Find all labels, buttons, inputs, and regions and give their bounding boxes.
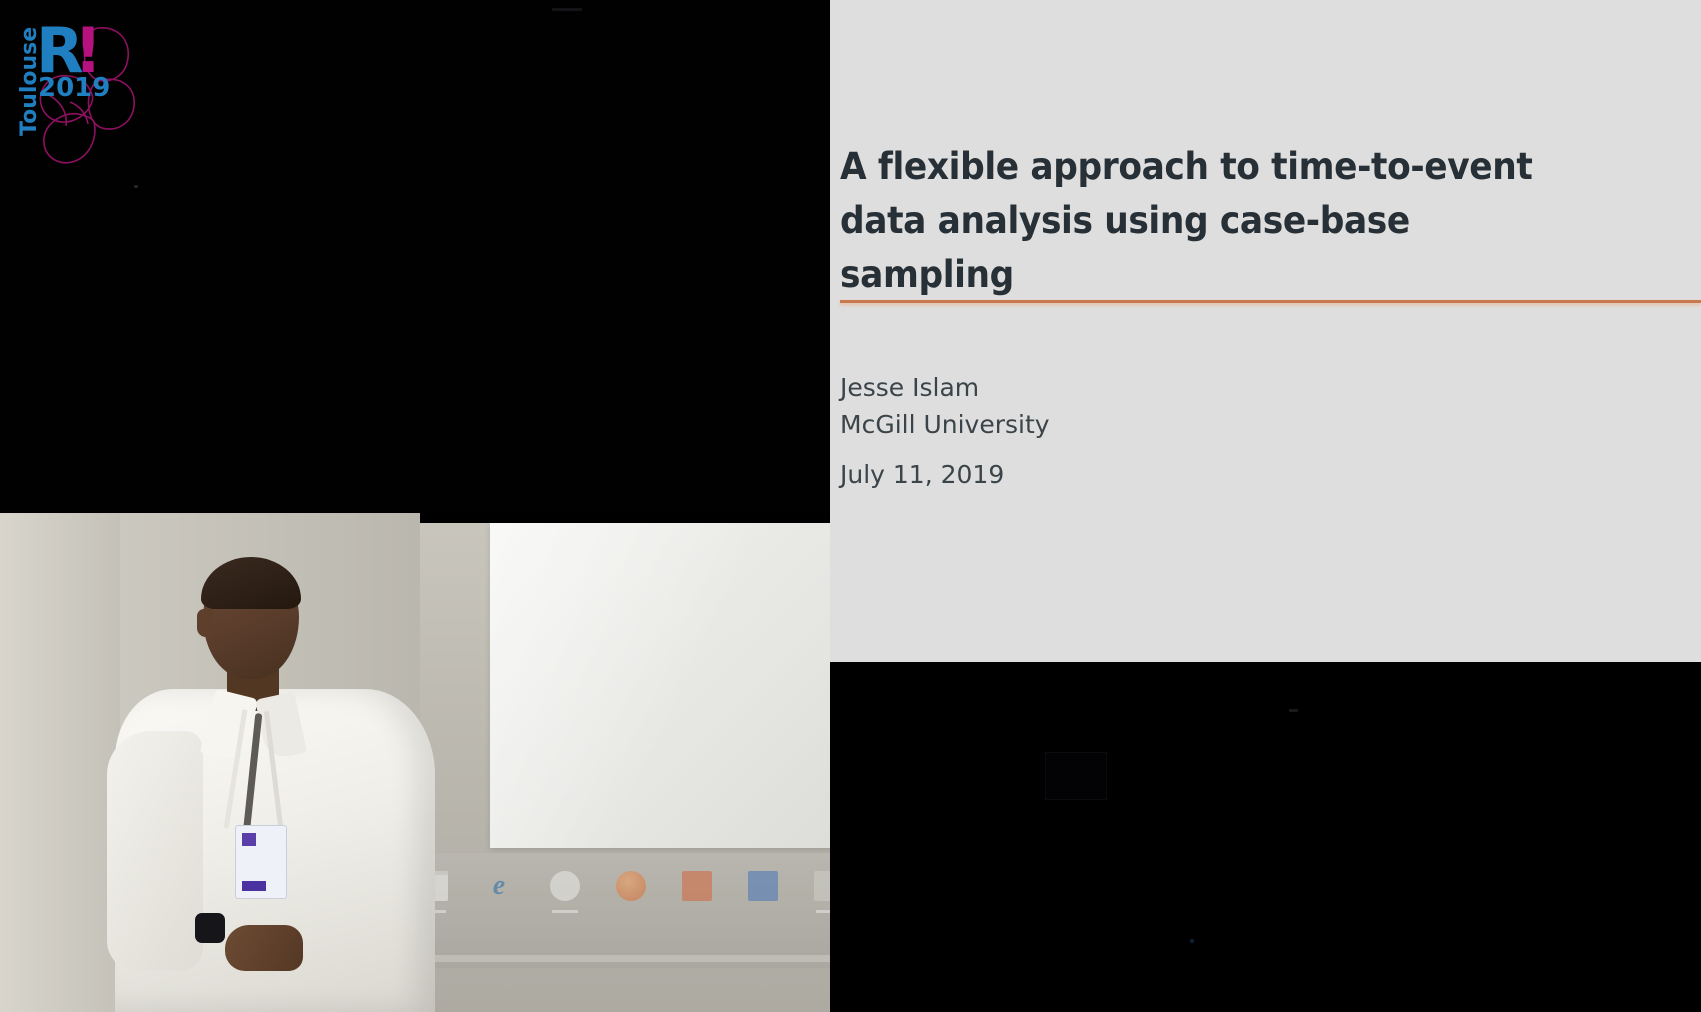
slide-date: July 11, 2019 xyxy=(840,457,1050,494)
light-speck xyxy=(1190,939,1194,943)
presenter-ear xyxy=(197,609,213,637)
misc-app-icon xyxy=(814,871,830,901)
presenter-hair xyxy=(201,557,301,609)
slide-affiliation: McGill University xyxy=(840,407,1050,444)
camera-dark-top-left[interactable]: Toulouse R ! 2019 xyxy=(0,0,830,513)
presenter-figure xyxy=(85,513,505,1012)
firefox-icon xyxy=(616,871,646,901)
presentation-slide[interactable]: A flexible approach to time-to-event dat… xyxy=(830,0,1701,662)
projection-screen xyxy=(490,523,830,848)
light-streak xyxy=(552,8,582,11)
presenter-hand xyxy=(225,925,303,971)
light-speck xyxy=(1289,709,1298,712)
powerpoint-icon xyxy=(682,871,712,901)
camera-audience-bottom-right[interactable] xyxy=(830,662,1701,1012)
toulouse-r-2019-logo: Toulouse R ! 2019 xyxy=(6,6,154,182)
dark-monitor-shape xyxy=(1045,752,1107,800)
wristwatch xyxy=(195,913,225,943)
slide-author-block: Jesse Islam McGill University July 11, 2… xyxy=(840,370,1050,494)
circle-app-icon xyxy=(550,871,580,901)
light-speck xyxy=(134,185,138,188)
slide-author-name: Jesse Islam xyxy=(840,370,1050,407)
word-icon xyxy=(748,871,778,901)
presenter-arm xyxy=(107,731,203,971)
title-divider-rule xyxy=(840,300,1701,303)
svg-text:2019: 2019 xyxy=(38,73,110,103)
screen-glare xyxy=(490,523,830,848)
camera-speaker-bottom-left[interactable]: e xyxy=(0,513,830,1012)
conference-badge xyxy=(235,825,287,899)
video-player-stage: Toulouse R ! 2019 A flexible approach to… xyxy=(0,0,1701,1012)
slide-title: A flexible approach to time-to-event dat… xyxy=(840,140,1575,302)
